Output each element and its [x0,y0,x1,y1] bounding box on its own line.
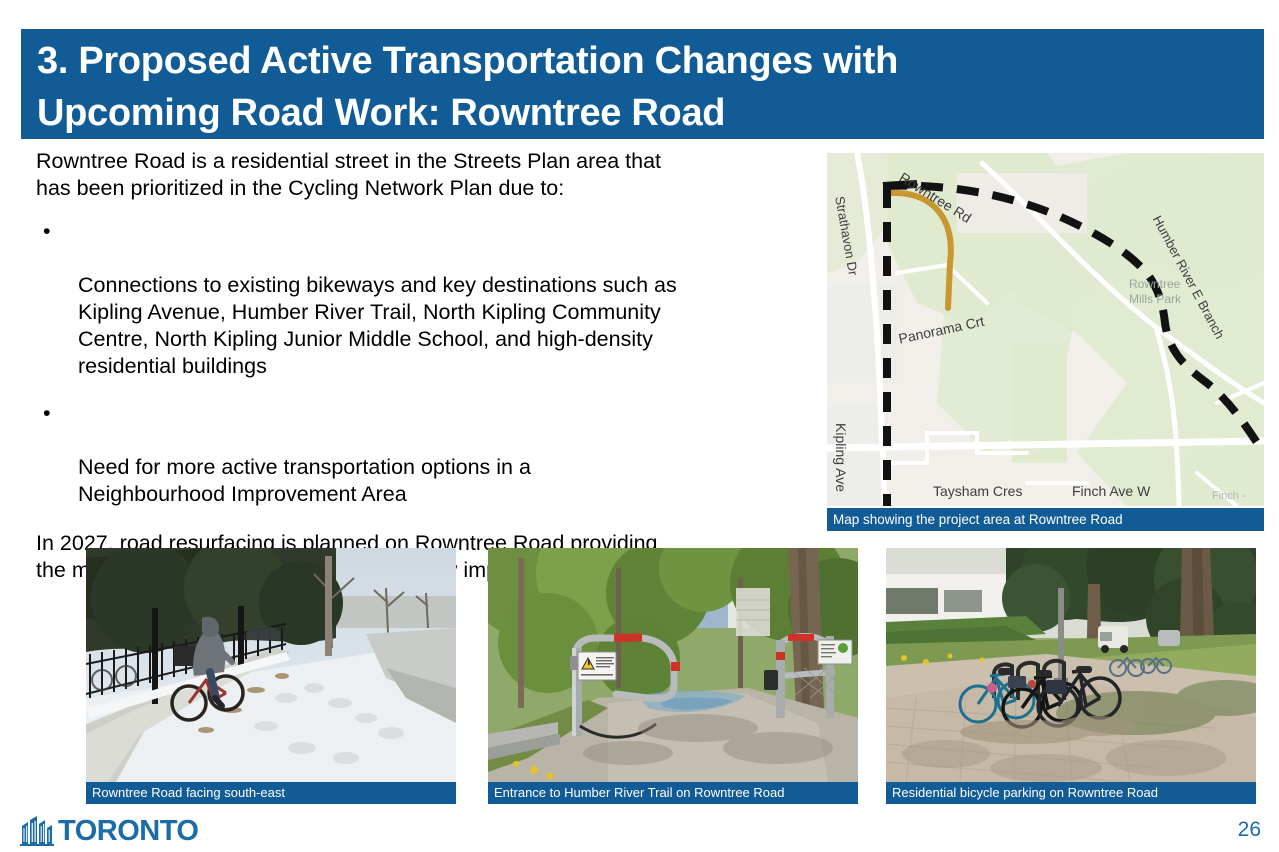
map-label-finch-ave-w: Finch Ave W [1072,483,1150,499]
slide-title-banner: 3. Proposed Active Transportation Change… [21,29,1264,139]
list-item-label: Need for more active transportation opti… [78,455,531,506]
photo-card-rowntree-road: Rowntree Road facing south-east [86,548,456,804]
photo-image-bike-parking [886,548,1256,782]
list-item: • Need for more active transportation op… [36,400,796,508]
photo-caption: Entrance to Humber River Trail on Rowntr… [488,782,858,804]
page-title: 3. Proposed Active Transportation Change… [37,35,1264,139]
toronto-wordmark: TORONTO [58,817,198,846]
lead-paragraph: Rowntree Road is a residential street in… [36,148,796,202]
photo-card-trail-entrance: Entrance to Humber River Trail on Rowntr… [488,548,858,804]
photo-image-cyclist-winter [86,548,456,782]
photo-card-bicycle-parking: Residential bicycle parking on Rowntree … [886,548,1256,804]
body-text-column: Rowntree Road is a residential street in… [36,148,796,584]
toronto-buildings-icon [20,816,54,846]
map-label-kipling-ave: Kipling Ave [833,423,849,492]
map-label-rowntree-mills-park: Rowntree Mills Park [1129,277,1181,307]
bullet-dot-icon: • [43,218,51,245]
photo-caption: Rowntree Road facing south-east [86,782,456,804]
map-label-finch-partial: Finch - [1212,490,1246,502]
photo-image-trail-gate [488,548,858,782]
photo-caption: Residential bicycle parking on Rowntree … [886,782,1256,804]
bullet-dot-icon: • [43,400,51,427]
bullet-list: • Connections to existing bikeways and k… [36,218,796,508]
list-item: • Connections to existing bikeways and k… [36,218,796,380]
map-canvas: Rowntree Rd Strathavon Dr Panorama Crt K… [827,153,1264,506]
map-caption: Map showing the project area at Rowntree… [827,508,1264,531]
toronto-logo: TORONTO [20,815,198,847]
project-area-map: Rowntree Rd Strathavon Dr Panorama Crt K… [827,153,1264,531]
page-number: 26 [1238,818,1261,842]
map-label-taysham-cres: Taysham Cres [933,483,1022,499]
map-graphic [827,153,1264,506]
list-item-label: Connections to existing bikeways and key… [78,273,677,378]
